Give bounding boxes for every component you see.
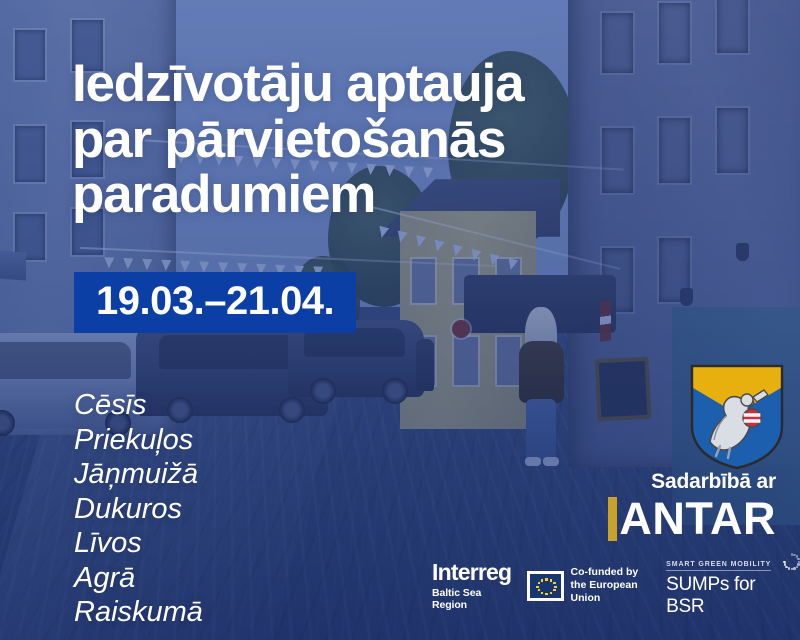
sumps-title: SUMPs for BSR: [666, 574, 774, 618]
kantar-gold-bar-icon: [608, 497, 617, 541]
eu-funding-logo: Co-funded by the European Union: [527, 566, 650, 605]
kantar-wordmark: ANTAR: [619, 496, 776, 541]
interreg-logo: Interreg Baltic Sea Region: [432, 561, 511, 611]
list-item: Cēsīs: [74, 388, 203, 423]
list-item: Dukuros: [74, 492, 203, 527]
partner-label: Sadarbībā ar: [608, 470, 776, 494]
date-range-badge: 19.03.–21.04.: [74, 272, 356, 333]
eu-flag-icon: [527, 571, 563, 601]
list-item: Agrā: [74, 561, 203, 596]
interreg-wordmark: Interreg: [432, 561, 511, 584]
list-item: Jāņmuižā: [74, 457, 203, 492]
eu-text-line-1: Co-funded by: [571, 566, 651, 579]
headline-line-2: par pārvietošanās: [72, 112, 712, 168]
page-title: Iedzīvotāju aptauja par pārvietošanās pa…: [72, 56, 712, 223]
kantar-logo: ANTAR: [608, 496, 776, 541]
eu-funding-text: Co-funded by the European Union: [571, 566, 651, 605]
eu-text-line-2: the European Union: [571, 579, 651, 605]
locations-list: Cēsīs Priekuļos Jāņmuižā Dukuros Līvos A…: [74, 388, 203, 630]
headline-line-1: Iedzīvotāju aptauja: [72, 56, 712, 112]
list-item: Līvos: [74, 526, 203, 561]
partner-block: Sadarbībā ar ANTAR: [608, 470, 776, 541]
cesis-coat-of-arms-icon: [690, 364, 784, 470]
sumps-logo: SMART GREEN MOBILITY SUMPs for BSR: [666, 553, 800, 618]
list-item: Priekuļos: [74, 423, 203, 458]
sumps-tagline: SMART GREEN MOBILITY: [666, 561, 771, 571]
funding-logo-bar: Interreg Baltic Sea Region Co-funded by …: [432, 553, 800, 618]
list-item: Raiskumā: [74, 595, 203, 630]
campaign-poster: Iedzīvotāju aptauja par pārvietošanās pa…: [0, 0, 800, 640]
interreg-subtitle: Baltic Sea Region: [432, 587, 511, 611]
headline-line-3: paradumiem: [72, 167, 712, 223]
sumps-swirl-icon: [781, 551, 800, 570]
